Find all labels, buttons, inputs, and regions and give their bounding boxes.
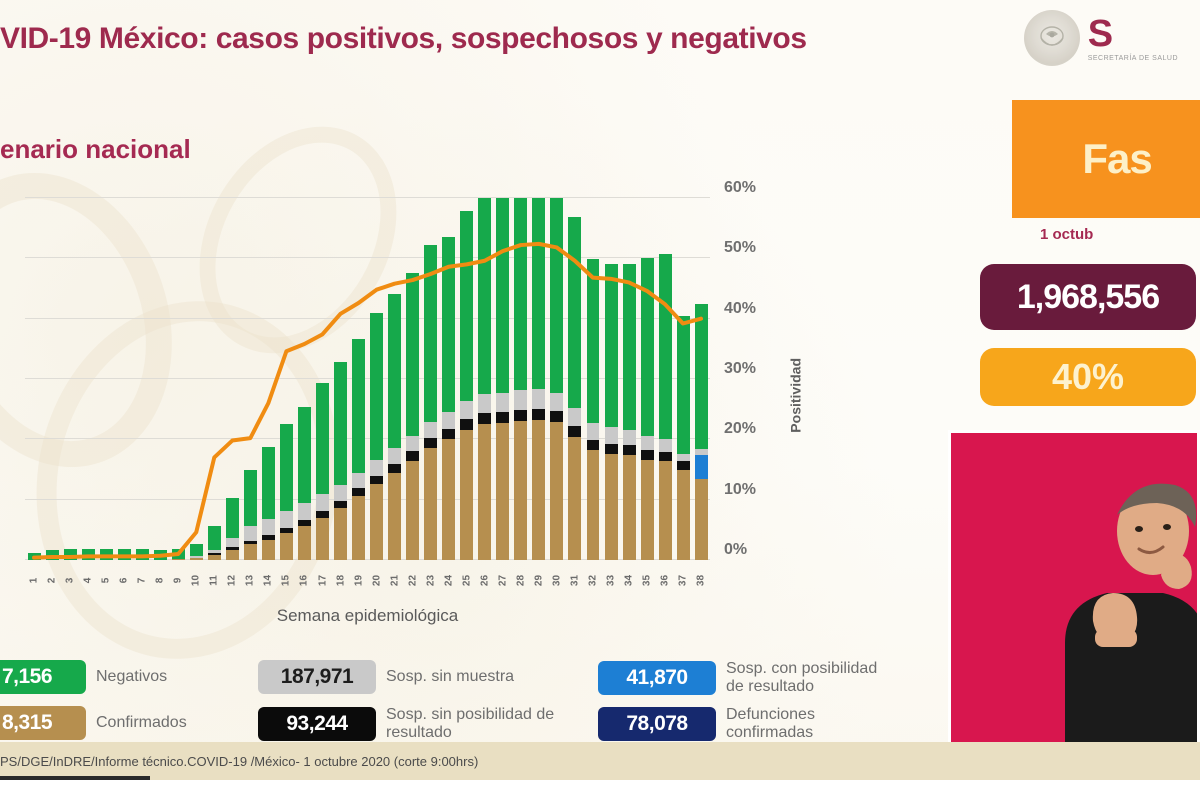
x-axis-tick-label: 2: [47, 571, 58, 589]
bar-segment: [496, 393, 509, 412]
bar-segment: [478, 424, 491, 560]
x-axis-tick-label: 5: [101, 571, 112, 589]
bar-column: [277, 198, 295, 560]
bar-segment: [262, 519, 275, 535]
x-axis-tick-label: 16: [299, 571, 310, 589]
stacked-bar: [352, 339, 365, 560]
bar-segment: [370, 313, 383, 460]
bar-segment: [641, 258, 654, 435]
bar-segment: [406, 273, 419, 436]
bar-segment: [496, 198, 509, 392]
bar-column: [223, 198, 241, 560]
bar-segment: [695, 455, 708, 479]
bar-segment: [623, 445, 636, 455]
stacked-bar: [298, 407, 311, 560]
footer-tab-marker: [0, 776, 150, 780]
legend-label: Sosp. con posibilidad de resultado: [726, 660, 896, 696]
x-axis-tick-label: 3: [65, 571, 76, 589]
bar-segment: [514, 198, 527, 390]
bar-segment: [424, 245, 437, 422]
bar-segment: [587, 440, 600, 450]
x-axis-tick-label: 24: [443, 571, 454, 589]
bar-segment: [532, 389, 545, 408]
y-axis-tick-label: 30%: [724, 360, 756, 378]
stat-value: 1,968,556: [980, 264, 1196, 330]
x-axis-tick-label: 38: [696, 571, 707, 589]
fase-badge: Fas: [1012, 100, 1200, 218]
bar-segment: [406, 451, 419, 461]
x-axis-tick-label: 35: [642, 571, 653, 589]
chart-y-axis-title: Positividad: [788, 358, 804, 433]
bar-segment: [695, 479, 708, 560]
stacked-bar: [172, 549, 185, 560]
x-axis-tick-label: 34: [624, 571, 635, 589]
bar-segment: [605, 264, 618, 427]
bar-segment: [118, 549, 131, 560]
interpreter-figure-icon: [1035, 453, 1200, 750]
bar-segment: [623, 264, 636, 429]
bar-segment: [244, 526, 257, 540]
stacked-bar: [478, 198, 491, 560]
x-axis-tick-label: 20: [371, 571, 382, 589]
bar-segment: [28, 553, 41, 560]
x-axis-tick-label: 4: [83, 571, 94, 589]
footer-source-text: PS/DGE/InDRE/Informe técnico.COVID-19 /M…: [0, 754, 478, 769]
bar-segment: [64, 549, 77, 560]
stacked-bar: [46, 550, 59, 560]
bar-segment: [677, 316, 690, 454]
bar-segment: [623, 455, 636, 560]
bar-column: [295, 198, 313, 560]
x-axis-tick-label: 32: [587, 571, 598, 589]
sosp-sin-posibilidad-swatch: 93,244: [258, 707, 376, 741]
bar-column: [476, 198, 494, 560]
stacked-bar: [100, 549, 113, 560]
bar-segment: [226, 550, 239, 560]
legend-label: Defunciones confirmadas: [726, 706, 896, 742]
bar-segment: [334, 501, 347, 508]
stacked-bar: [280, 424, 293, 560]
bar-column: [169, 198, 187, 560]
bar-column: [494, 198, 512, 560]
x-axis-tick-label: 25: [461, 571, 472, 589]
bar-segment: [568, 426, 581, 437]
x-axis-tick-label: 8: [155, 571, 166, 589]
sosp-sin-muestra-swatch: 187,971: [258, 660, 376, 694]
bar-column: [638, 198, 656, 560]
bar-column: [368, 198, 386, 560]
stacked-bar: [442, 237, 455, 560]
stacked-bar: [136, 549, 149, 560]
bar-segment: [190, 558, 203, 560]
bar-column: [620, 198, 638, 560]
x-axis-tick-label: 13: [245, 571, 256, 589]
bar-column: [25, 198, 43, 560]
bar-segment: [605, 444, 618, 454]
bar-segment: [46, 550, 59, 560]
stacked-bar: [388, 294, 401, 560]
bar-segment: [496, 412, 509, 423]
stat-personas-notificadas: 1,968,556 Perso notific: [980, 264, 1200, 330]
x-axis-tick-label: 17: [317, 571, 328, 589]
y-axis-tick-label: 50%: [724, 239, 756, 257]
stacked-bar: [334, 362, 347, 560]
bar-segment: [316, 518, 329, 560]
bar-segment: [659, 254, 672, 439]
bar-segment: [388, 464, 401, 473]
bar-segment: [478, 198, 491, 394]
bar-segment: [316, 511, 329, 518]
bar-segment: [478, 394, 491, 413]
stacked-bar: [226, 498, 239, 560]
positividad-stacked-bar-chart: 0%10%20%30%40%50%60% Positividad 1234567…: [0, 188, 820, 588]
bar-segment: [154, 550, 167, 560]
bar-segment: [244, 470, 257, 527]
fase-label: Fas: [1082, 135, 1151, 183]
bar-segment: [568, 437, 581, 560]
bar-column: [332, 198, 350, 560]
bar-column: [97, 198, 115, 560]
bar-column: [115, 198, 133, 560]
x-axis-tick-label: 10: [191, 571, 202, 589]
x-axis-tick-label: 19: [353, 571, 364, 589]
bar-segment: [514, 390, 527, 409]
bar-column: [584, 198, 602, 560]
bar-segment: [514, 410, 527, 421]
negativos-swatch: 7,156: [0, 660, 86, 694]
x-axis-tick-label: 28: [515, 571, 526, 589]
bar-segment: [262, 447, 275, 519]
bar-column: [548, 198, 566, 560]
bar-column: [674, 198, 692, 560]
bar-column: [386, 198, 404, 560]
x-axis-tick-label: 37: [678, 571, 689, 589]
fase-date: 1 octub: [1040, 226, 1093, 243]
bar-column: [259, 198, 277, 560]
stacked-bar: [514, 198, 527, 560]
x-axis-tick-label: 12: [227, 571, 238, 589]
x-axis-tick-label: 18: [335, 571, 346, 589]
bar-segment: [136, 549, 149, 560]
defunciones-swatch: 78,078: [598, 707, 716, 741]
bar-segment: [478, 413, 491, 424]
y-axis-tick-label: 20%: [724, 420, 756, 438]
bar-column: [241, 198, 259, 560]
bar-segment: [208, 526, 221, 550]
stacked-bar: [406, 273, 419, 560]
stacked-bar: [118, 549, 131, 560]
x-axis-tick-label: 14: [263, 571, 274, 589]
bar-segment: [442, 237, 455, 412]
bar-column: [187, 198, 205, 560]
legend-item: 187,971Sosp. sin muestra: [258, 660, 598, 694]
bar-segment: [352, 488, 365, 496]
bar-segment: [550, 422, 563, 560]
bar-segment: [388, 294, 401, 448]
x-axis-tick-label: 29: [533, 571, 544, 589]
bar-column: [602, 198, 620, 560]
stacked-bar: [28, 553, 41, 560]
x-axis-tick-label: 31: [569, 571, 580, 589]
bar-segment: [641, 436, 654, 450]
y-axis-tick-label: 60%: [724, 179, 756, 197]
legend-item: 7,156Negativos: [0, 660, 258, 694]
legend-item: 41,870Sosp. con posibilidad de resultado: [598, 660, 908, 696]
bar-segment: [659, 461, 672, 560]
bar-segment: [370, 484, 383, 560]
legend-row: 7,156Negativos187,971Sosp. sin muestra41…: [0, 660, 908, 696]
page-subtitle: enario nacional: [0, 134, 191, 165]
bar-segment: [460, 430, 473, 560]
x-axis-tick-label: 33: [606, 571, 617, 589]
y-axis-tick-label: 10%: [724, 481, 756, 499]
bar-segment: [100, 549, 113, 560]
stacked-bar: [316, 383, 329, 560]
bar-column: [133, 198, 151, 560]
bar-segment: [280, 533, 293, 560]
bar-segment: [677, 470, 690, 560]
x-axis-tick-label: 9: [173, 571, 184, 589]
sosp-con-posibilidad-swatch: 41,870: [598, 661, 716, 695]
bar-segment: [352, 496, 365, 560]
bar-column: [566, 198, 584, 560]
bar-segment: [244, 544, 257, 560]
x-axis-tick-label: 1: [29, 571, 40, 589]
stacked-bar: [623, 264, 636, 560]
stacked-bar: [568, 217, 581, 560]
bar-segment: [262, 540, 275, 561]
stacked-bar: [587, 259, 600, 560]
bar-segment: [641, 450, 654, 460]
footer-bar: PS/DGE/InDRE/Informe técnico.COVID-19 /M…: [0, 742, 1200, 780]
chart-bars: [25, 198, 710, 560]
stacked-bar: [370, 313, 383, 560]
bar-segment: [406, 461, 419, 560]
x-axis-tick-label: 23: [425, 571, 436, 589]
bar-segment: [550, 198, 563, 393]
bar-column: [530, 198, 548, 560]
bar-segment: [587, 450, 600, 560]
slide-canvas: VID-19 México: casos positivos, sospecho…: [0, 0, 1200, 780]
bar-segment: [532, 420, 545, 560]
bar-segment: [280, 424, 293, 511]
bar-column: [656, 198, 674, 560]
stacked-bar: [82, 549, 95, 560]
legend-row: 8,315Confirmados93,244Sosp. sin posibili…: [0, 706, 908, 742]
right-rail: Fas 1 octub 1,968,556 Perso notific 40% …: [960, 0, 1200, 780]
stacked-bar: [532, 198, 545, 560]
x-axis-tick-label: 15: [281, 571, 292, 589]
bar-segment: [190, 544, 203, 556]
stacked-bar: [677, 316, 690, 560]
bar-segment: [334, 362, 347, 485]
bar-segment: [605, 454, 618, 560]
stacked-bar: [424, 245, 437, 560]
stacked-bar: [605, 264, 618, 560]
bar-segment: [226, 538, 239, 548]
bar-segment: [550, 393, 563, 412]
bar-segment: [280, 511, 293, 528]
y-axis-tick-label: 0%: [724, 541, 747, 559]
bar-column: [350, 198, 368, 560]
bar-column: [422, 198, 440, 560]
bar-column: [458, 198, 476, 560]
bar-segment: [442, 429, 455, 439]
x-axis-tick-label: 27: [497, 571, 508, 589]
stacked-bar: [695, 304, 708, 560]
stacked-bar: [550, 198, 563, 560]
legend-label: Sosp. sin muestra: [386, 668, 514, 686]
bar-segment: [659, 439, 672, 452]
bar-column: [61, 198, 79, 560]
bar-segment: [298, 526, 311, 560]
legend-item: 8,315Confirmados: [0, 706, 258, 740]
stacked-bar: [190, 544, 203, 560]
legend-label: Negativos: [96, 668, 167, 686]
bar-segment: [226, 498, 239, 538]
legend-label: Sosp. sin posibilidad de resultado: [386, 706, 556, 742]
stacked-bar: [262, 447, 275, 560]
stat-positividad: 40% Positi SE 38: [980, 348, 1200, 406]
bar-segment: [532, 198, 545, 389]
bar-segment: [82, 549, 95, 560]
bar-segment: [514, 421, 527, 560]
bar-segment: [677, 461, 690, 469]
stacked-bar: [659, 254, 672, 560]
bar-segment: [316, 494, 329, 511]
bar-segment: [334, 485, 347, 501]
bar-segment: [460, 419, 473, 430]
bar-segment: [352, 339, 365, 473]
chart-plot-area: 0%10%20%30%40%50%60% Positividad 1234567…: [25, 198, 710, 560]
legend-item: 78,078Defunciones confirmadas: [598, 706, 908, 742]
x-axis-tick-label: 7: [137, 571, 148, 589]
bar-segment: [298, 407, 311, 504]
x-axis-tick-label: 26: [479, 571, 490, 589]
page-title: VID-19 México: casos positivos, sospecho…: [0, 22, 1000, 56]
bar-column: [79, 198, 97, 560]
x-axis-tick-label: 30: [551, 571, 562, 589]
bar-segment: [424, 438, 437, 448]
bar-segment: [659, 452, 672, 461]
bar-column: [440, 198, 458, 560]
bar-column: [205, 198, 223, 560]
bar-segment: [406, 436, 419, 452]
stat-value: 40%: [980, 348, 1196, 406]
bar-column: [314, 198, 332, 560]
bar-segment: [442, 412, 455, 429]
x-axis-tick-label: 22: [407, 571, 418, 589]
bar-segment: [370, 476, 383, 484]
bar-segment: [388, 473, 401, 560]
stacked-bar: [641, 258, 654, 560]
chart-x-axis-title: Semana epidemiológica: [25, 606, 710, 626]
bar-segment: [568, 217, 581, 408]
bar-segment: [172, 549, 185, 559]
x-axis-tick-label: 6: [119, 571, 130, 589]
bar-segment: [208, 555, 221, 560]
bar-segment: [298, 503, 311, 520]
x-axis-tick-label: 11: [209, 571, 220, 589]
bar-column: [151, 198, 169, 560]
bar-segment: [605, 427, 618, 444]
bar-segment: [587, 423, 600, 440]
legend-item: 93,244Sosp. sin posibilidad de resultado: [258, 706, 598, 742]
bar-segment: [370, 460, 383, 476]
stacked-bar: [496, 198, 509, 560]
bar-segment: [334, 508, 347, 560]
stacked-bar: [460, 211, 473, 560]
x-axis-tick-label: 36: [660, 571, 671, 589]
bar-segment: [695, 304, 708, 449]
chart-x-axis-ticks: 1234567891011121314151617181920212223242…: [25, 575, 710, 586]
legend-label: Confirmados: [96, 714, 187, 732]
bar-segment: [172, 559, 185, 560]
bar-segment: [568, 408, 581, 426]
bar-segment: [460, 211, 473, 400]
bar-segment: [424, 448, 437, 560]
stacked-bar: [64, 549, 77, 560]
bar-column: [692, 198, 710, 560]
bar-segment: [677, 454, 690, 461]
bar-segment: [496, 423, 509, 560]
sign-language-interpreter-video: [948, 430, 1200, 750]
bar-column: [404, 198, 422, 560]
confirmados-swatch: 8,315: [0, 706, 86, 740]
x-axis-tick-label: 21: [389, 571, 400, 589]
y-axis-tick-label: 40%: [724, 300, 756, 318]
bar-column: [43, 198, 61, 560]
bar-segment: [460, 401, 473, 419]
stacked-bar: [244, 470, 257, 561]
bar-segment: [442, 439, 455, 560]
bar-segment: [316, 383, 329, 494]
bar-segment: [587, 259, 600, 423]
bar-segment: [532, 409, 545, 420]
stacked-bar: [154, 550, 167, 560]
bar-segment: [641, 460, 654, 560]
bar-column: [512, 198, 530, 560]
bar-segment: [424, 422, 437, 438]
bar-segment: [388, 448, 401, 464]
bar-segment: [623, 430, 636, 446]
bar-segment: [352, 473, 365, 489]
stacked-bar: [208, 526, 221, 560]
bar-segment: [550, 411, 563, 422]
